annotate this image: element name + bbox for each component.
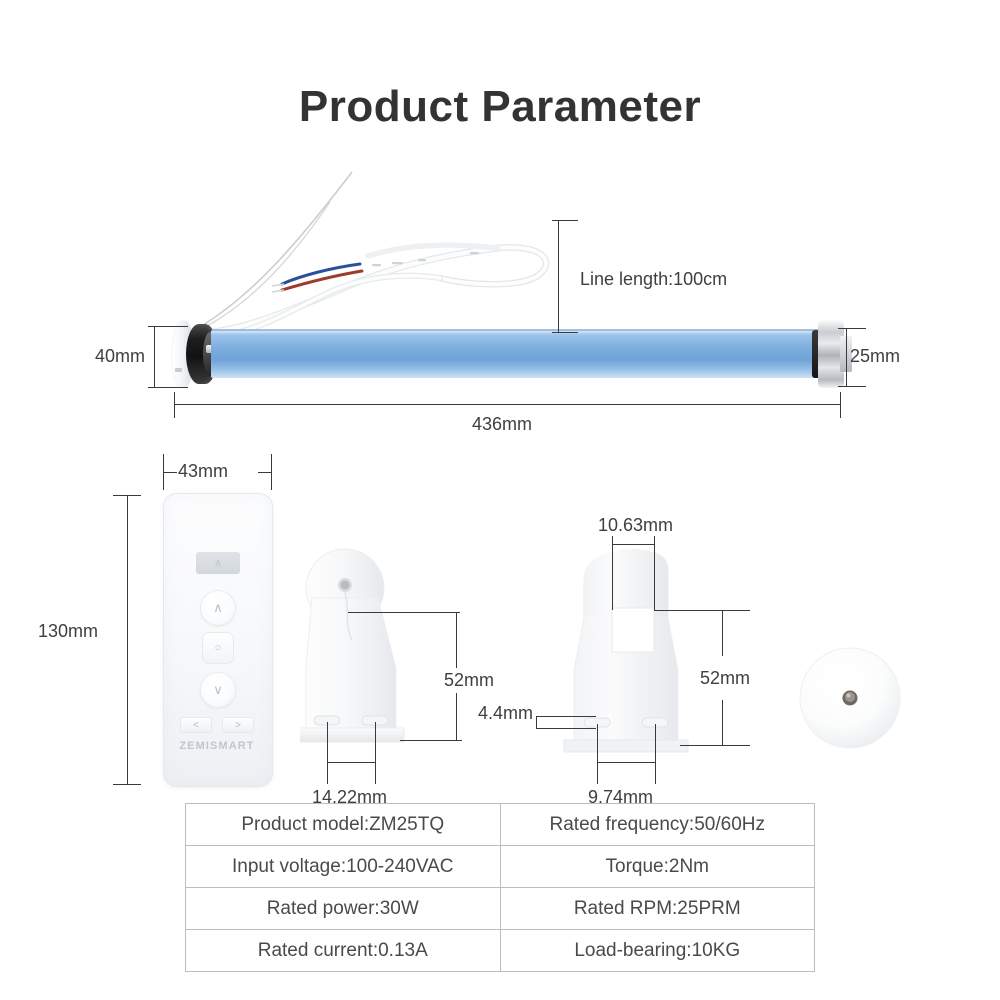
wire-harness-icon xyxy=(0,180,1000,440)
square-bracket-dim-1063mm-label: 10.63mm xyxy=(598,515,673,536)
round-bracket-leader-bottom xyxy=(400,740,462,741)
dim-line-length-line xyxy=(558,220,559,333)
dim-436mm-line xyxy=(174,404,841,405)
spec-cell-input-voltage: Input voltage:100-240VAC xyxy=(186,846,501,888)
motor-tube-body xyxy=(211,330,823,378)
dim-25mm-tick-bottom xyxy=(838,386,866,387)
remote-lcd-glyph: ∧ xyxy=(196,552,240,574)
table-row: Product model:ZM25TQ Rated frequency:50/… xyxy=(186,804,815,846)
dim-25mm-label: 25mm xyxy=(850,346,900,367)
remote-brand-logo: ZEMISMART xyxy=(163,740,271,752)
spec-cell-product-model: Product model:ZM25TQ xyxy=(186,804,501,846)
round-bracket-slot-tick-right xyxy=(375,722,376,784)
square-bracket-assembly: 10.63mm 52mm 4.4mm 9.74mm xyxy=(550,500,790,820)
square-bracket-dim-52mm-line-upper xyxy=(722,610,723,656)
dim-line-length-tick-top xyxy=(552,220,578,221)
idler-wheel-assembly xyxy=(770,620,930,780)
dim-40mm-tick-top xyxy=(148,326,188,327)
square-bracket-leader-bottom xyxy=(680,745,750,746)
dim-436mm-label: 436mm xyxy=(472,414,532,435)
table-row: Rated current:0.13A Load-bearing:10KG xyxy=(186,930,815,972)
dim-25mm-line xyxy=(846,328,847,386)
spec-cell-load-bearing: Load-bearing:10KG xyxy=(500,930,815,972)
page-title: Product Parameter xyxy=(0,82,1000,132)
round-bracket-slot-line xyxy=(327,762,376,763)
motor-tube-top-edge xyxy=(211,329,823,331)
square-bracket-slot-tick-left xyxy=(597,724,598,784)
dim-40mm-line xyxy=(154,326,155,388)
dim-130mm-label: 130mm xyxy=(34,618,102,645)
square-bracket-dim-44mm-label: 4.4mm xyxy=(478,703,533,724)
spec-table: Product model:ZM25TQ Rated frequency:50/… xyxy=(185,803,815,972)
dim-43mm-tick-right xyxy=(271,454,272,490)
dim-43mm-line-right xyxy=(258,472,271,473)
square-bracket-thickness-line-top xyxy=(536,716,596,717)
square-bracket-cutout-tick-left xyxy=(612,536,613,610)
dim-130mm-line xyxy=(127,495,128,785)
table-row: Input voltage:100-240VAC Torque:2Nm xyxy=(186,846,815,888)
dim-40mm-tick-bottom xyxy=(148,387,188,388)
spec-cell-torque: Torque:2Nm xyxy=(500,846,815,888)
dim-130mm-tick-top xyxy=(113,495,141,496)
spec-cell-rated-frequency: Rated frequency:50/60Hz xyxy=(500,804,815,846)
idler-wheel-icon xyxy=(770,620,930,780)
remote-stop-button[interactable]: ○ xyxy=(202,632,234,664)
remote-down-button[interactable]: ∨ xyxy=(200,672,236,708)
round-bracket-dim-52mm-label: 52mm xyxy=(440,668,498,693)
square-bracket-slot-tick-right xyxy=(655,724,656,784)
round-bracket-assembly: 52mm 14.22mm xyxy=(300,540,520,820)
dim-43mm-label: 43mm xyxy=(178,461,228,482)
dim-40mm-label: 40mm xyxy=(95,346,145,367)
spec-cell-rated-rpm: Rated RPM:25PRM xyxy=(500,888,815,930)
remote-up-button[interactable]: ∧ xyxy=(200,590,236,626)
square-bracket-thickness-tick xyxy=(536,716,537,729)
square-bracket-dim-52mm-label: 52mm xyxy=(696,666,754,691)
square-bracket-cutout-tick-right xyxy=(654,536,655,610)
dim-43mm-line-left xyxy=(163,472,177,473)
table-row: Rated power:30W Rated RPM:25PRM xyxy=(186,888,815,930)
remote-next-channel-button[interactable]: > xyxy=(222,717,254,733)
round-bracket-slot-tick-left xyxy=(327,722,328,784)
round-bracket-leader-top xyxy=(348,612,460,613)
square-bracket-icon xyxy=(550,500,790,820)
dim-line-length-tick-bottom xyxy=(552,332,578,333)
dim-25mm-tick-top xyxy=(838,328,866,329)
remote-control-assembly: 43mm 130mm ∧ ∧ ○ ∨ < > ZEMISMART xyxy=(0,440,340,810)
dim-130mm-tick-bottom xyxy=(113,784,141,785)
dim-436mm-tick-right xyxy=(840,392,841,418)
product-parameter-page: Product Parameter xyxy=(0,0,1000,1000)
square-bracket-slot-line xyxy=(597,762,656,763)
dim-436mm-tick-left xyxy=(174,392,175,418)
remote-prev-channel-button[interactable]: < xyxy=(180,717,212,733)
dim-line-length-label: Line length:100cm xyxy=(580,269,727,290)
motor-tube-assembly: 40mm 25mm 436mm Line length:100cm xyxy=(0,180,1000,440)
motor-collar-notch xyxy=(175,368,182,372)
spec-cell-rated-power: Rated power:30W xyxy=(186,888,501,930)
square-bracket-cutout-line xyxy=(612,544,655,545)
square-bracket-dim-52mm-line-lower xyxy=(722,700,723,746)
square-bracket-leader-top xyxy=(654,610,750,611)
spec-cell-rated-current: Rated current:0.13A xyxy=(186,930,501,972)
square-bracket-thickness-line-bottom xyxy=(536,728,596,729)
